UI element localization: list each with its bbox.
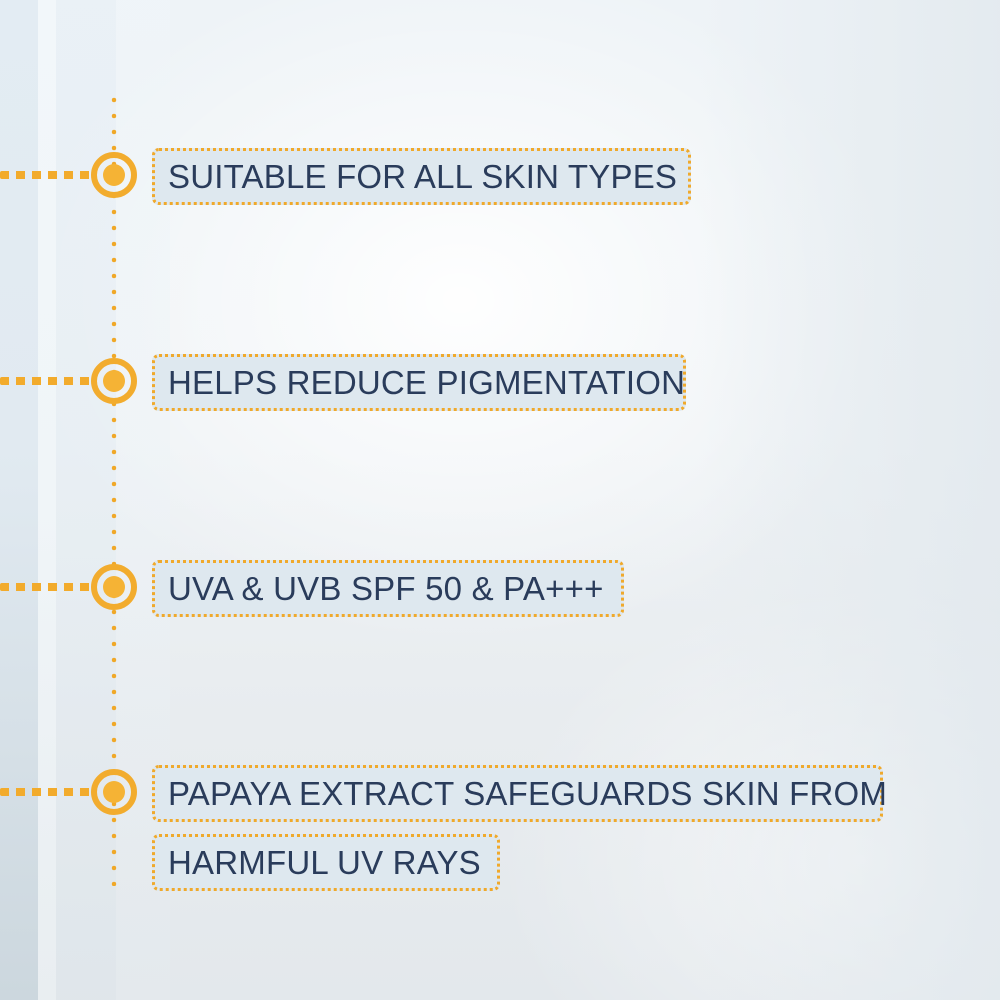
marker-dot-icon [103,781,125,803]
connector-line-1 [0,171,92,179]
marker-dot-icon [103,370,125,392]
background-band-highlight [38,0,56,1000]
benefit-chip-4-line-2[interactable]: HARMFUL UV RAYS [152,834,500,891]
background-glow-right [700,0,1000,1000]
benefit-label-2: HELPS REDUCE PIGMENTATION [168,366,685,399]
benefit-chip-4-line-1[interactable]: PAPAYA EXTRACT SAFEGUARDS SKIN FROM [152,765,883,822]
timeline-marker-1[interactable] [91,152,137,198]
marker-dot-icon [103,576,125,598]
timeline-marker-4[interactable] [91,769,137,815]
benefit-label-4a: PAPAYA EXTRACT SAFEGUARDS SKIN FROM [168,777,887,810]
infographic-canvas: SUITABLE FOR ALL SKIN TYPES HELPS REDUCE… [0,0,1000,1000]
benefit-label-4b: HARMFUL UV RAYS [168,846,481,879]
timeline-marker-3[interactable] [91,564,137,610]
benefit-chip-3-line-1[interactable]: UVA & UVB SPF 50 & PA+++ [152,560,624,617]
connector-line-2 [0,377,92,385]
connector-line-4 [0,788,92,796]
timeline-spine [110,96,118,886]
benefit-chip-1-line-1[interactable]: SUITABLE FOR ALL SKIN TYPES [152,148,691,205]
marker-dot-icon [103,164,125,186]
benefit-label-3: UVA & UVB SPF 50 & PA+++ [168,572,604,605]
background-band-left [0,0,38,1000]
background-band-mid [56,0,116,1000]
timeline-marker-2[interactable] [91,358,137,404]
benefit-label-1: SUITABLE FOR ALL SKIN TYPES [168,160,677,193]
benefit-chip-2-line-1[interactable]: HELPS REDUCE PIGMENTATION [152,354,686,411]
connector-line-3 [0,583,92,591]
